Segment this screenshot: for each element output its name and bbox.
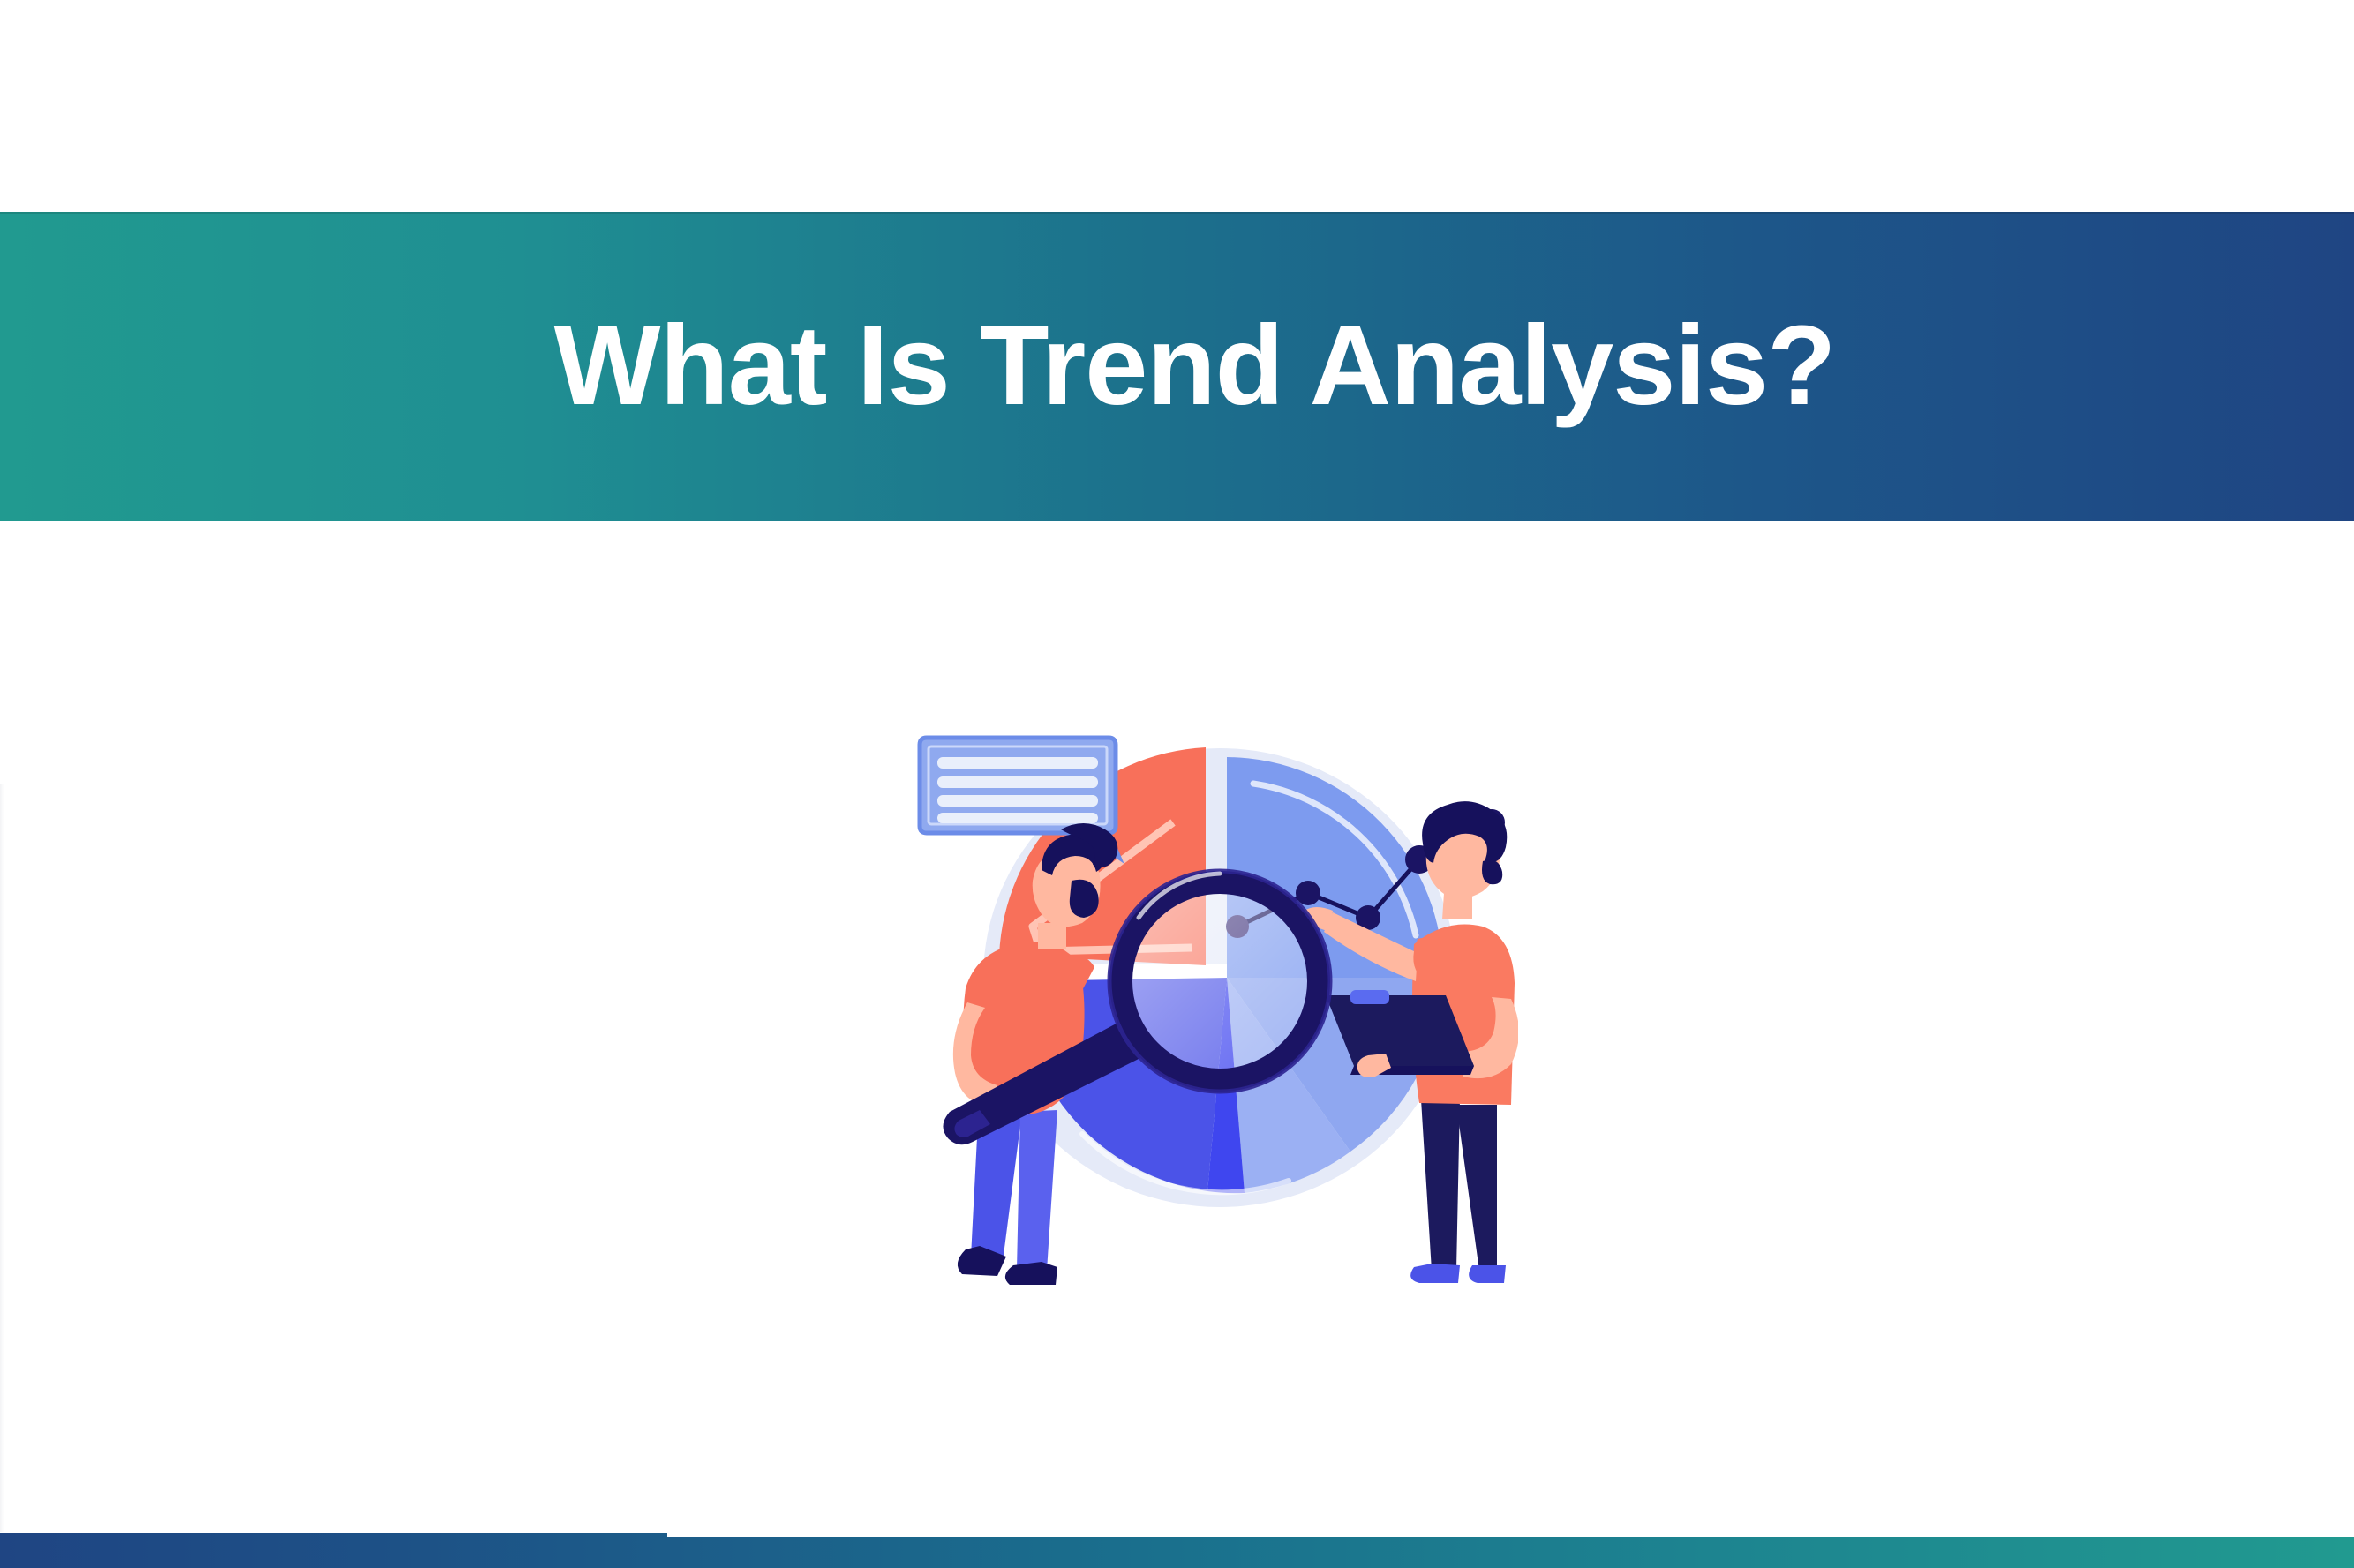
footer-accent-band-left xyxy=(0,1533,667,1568)
left-edge-rule xyxy=(0,784,4,1532)
footer-accent-band-right xyxy=(667,1537,2354,1568)
slide-canvas: What Is Trend Analysis? xyxy=(0,0,2354,1568)
shoe-right-1 xyxy=(1410,1264,1460,1283)
title-banner: What Is Trend Analysis? xyxy=(0,212,2354,521)
page-title: What Is Trend Analysis? xyxy=(554,310,1836,423)
illustration-svg xyxy=(874,653,1518,1297)
trend-analysis-illustration xyxy=(874,653,1518,1297)
shoe-left-2 xyxy=(1005,1262,1057,1285)
shoe-right-2 xyxy=(1469,1265,1506,1283)
line-point-2 xyxy=(1296,881,1320,905)
